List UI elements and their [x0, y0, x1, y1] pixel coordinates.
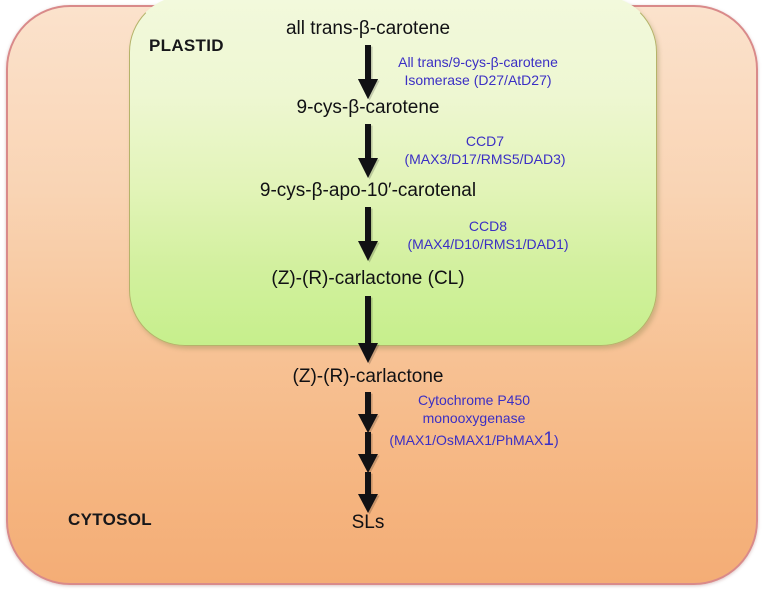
enzyme-d27-line2: Isomerase (D27/AtD27) [398, 72, 558, 90]
compound-sls: SLs [352, 512, 385, 534]
reaction-arrow-5 [355, 392, 381, 434]
reaction-arrow-2 [355, 124, 381, 179]
enzyme-p450-line2: monooxygenase [389, 410, 558, 428]
enzyme-ccd8-line1: CCD8 [407, 218, 568, 236]
plastid-label: PLASTID [149, 36, 224, 56]
enzyme-d27-isomerase: All trans/9-cys-β-carotene Isomerase (D2… [398, 54, 558, 90]
reaction-arrow-7 [355, 472, 381, 514]
enzyme-d27-line1: All trans/9-cys-β-carotene [398, 54, 558, 72]
enzyme-ccd7: CCD7 (MAX3/D17/RMS5/DAD3) [404, 133, 565, 169]
enzyme-cytochrome-p450: Cytochrome P450 monooxygenase (MAX1/OsMA… [389, 392, 558, 452]
enzyme-p450-line3-big-one: 1 [543, 429, 554, 450]
enzyme-ccd7-line1: CCD7 [404, 133, 565, 151]
enzyme-ccd8: CCD8 (MAX4/D10/RMS1/DAD1) [407, 218, 568, 254]
enzyme-ccd8-line2: (MAX4/D10/RMS1/DAD1) [407, 236, 568, 254]
compound-carlactone-cl: (Z)-(R)-carlactone (CL) [271, 268, 464, 290]
compound-carlactone: (Z)-(R)-carlactone [293, 366, 444, 388]
reaction-arrow-6 [355, 432, 381, 474]
enzyme-p450-line3: (MAX1/OsMAX1/PhMAX1) [389, 428, 558, 452]
enzyme-p450-line3-prefix: (MAX1/OsMAX1/PhMAX [389, 432, 543, 448]
reaction-arrow-4-membrane-transport [355, 296, 381, 364]
enzyme-ccd7-line2: (MAX3/D17/RMS5/DAD3) [404, 151, 565, 169]
compound-9-cys-beta-apo-10-carotenal: 9-cys-β-apo-10′-carotenal [260, 180, 476, 202]
enzyme-p450-line3-suffix: ) [554, 432, 559, 448]
cytosol-label: CYTOSOL [68, 510, 152, 530]
reaction-arrow-3 [355, 207, 381, 262]
reaction-arrow-1 [355, 45, 381, 100]
compound-all-trans-beta-carotene: all trans-β-carotene [286, 18, 450, 40]
compound-9-cys-beta-carotene: 9-cys-β-carotene [297, 97, 440, 119]
figure-canvas: PLASTID CYTOSOL all trans-β-carotene All… [0, 0, 767, 593]
enzyme-p450-line1: Cytochrome P450 [389, 392, 558, 410]
